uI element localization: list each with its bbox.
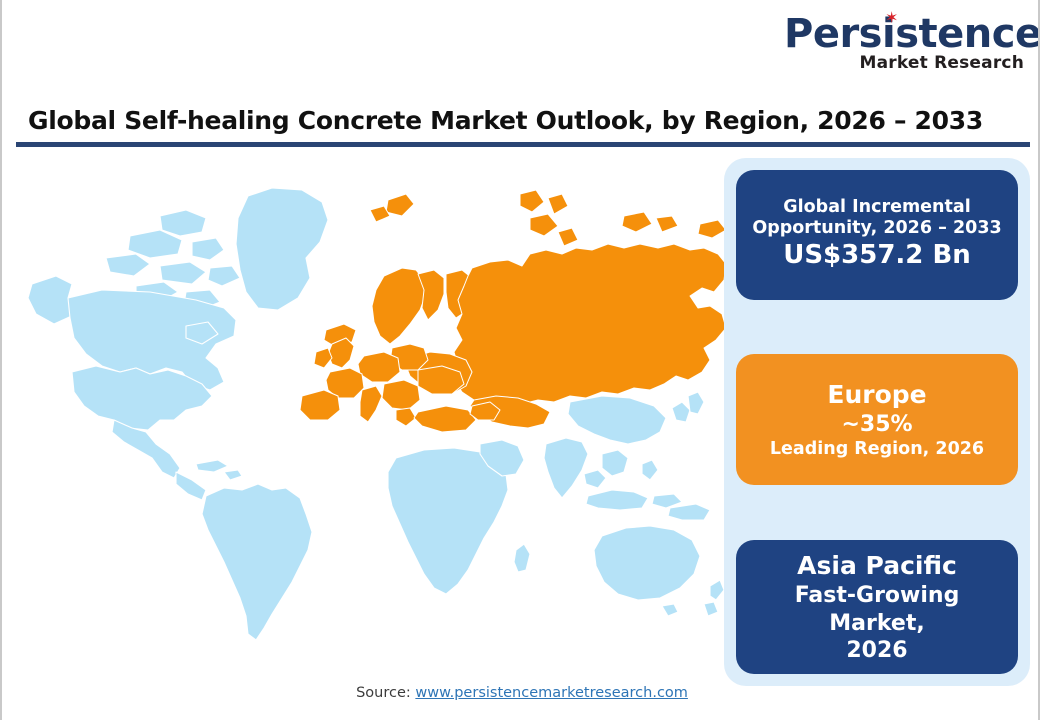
stats-panel: Global Incremental Opportunity, 2026 – 2… xyxy=(724,158,1030,686)
world-map-svg xyxy=(10,158,726,658)
logo-brand-label: Persistence xyxy=(784,11,1040,57)
logo-tagline: Market Research xyxy=(784,55,1024,72)
card-opportunity-line2: Opportunity, 2026 – 2033 xyxy=(752,218,1001,239)
logo-star-icon: ✶ xyxy=(885,12,896,23)
stat-card-global-incremental-opportunity: Global Incremental Opportunity, 2026 – 2… xyxy=(736,170,1018,300)
source-link[interactable]: www.persistencemarketresearch.com xyxy=(415,685,688,701)
logo-brand-text: Persistence ✶ xyxy=(784,14,1040,54)
card-fastgrowing-caption-line2: 2026 xyxy=(846,637,907,665)
title-divider xyxy=(16,142,1030,147)
source-footer: Source: www.persistencemarketresearch.co… xyxy=(2,685,1040,701)
company-logo: Persistence ✶ Market Research xyxy=(784,14,1024,72)
card-opportunity-value: US$357.2 Bn xyxy=(783,239,971,273)
card-fastgrowing-region-name: Asia Pacific xyxy=(797,550,957,583)
stat-card-fast-growing-market: Asia Pacific Fast-Growing Market, 2026 xyxy=(736,540,1018,674)
card-leading-region-caption: Leading Region, 2026 xyxy=(770,439,984,460)
map-highlighted-countries xyxy=(300,190,726,432)
page-title: Global Self-healing Concrete Market Outl… xyxy=(28,106,983,135)
world-map xyxy=(10,158,726,658)
card-fastgrowing-caption-line1: Fast-Growing Market, xyxy=(746,582,1008,637)
stat-card-leading-region: Europe ~35% Leading Region, 2026 xyxy=(736,354,1018,485)
card-leading-region-share: ~35% xyxy=(841,411,912,439)
card-opportunity-line1: Global Incremental xyxy=(783,197,970,218)
card-leading-region-name: Europe xyxy=(827,379,926,412)
source-label: Source: xyxy=(356,685,411,701)
infographic-page: Persistence ✶ Market Research Global Sel… xyxy=(0,0,1040,720)
